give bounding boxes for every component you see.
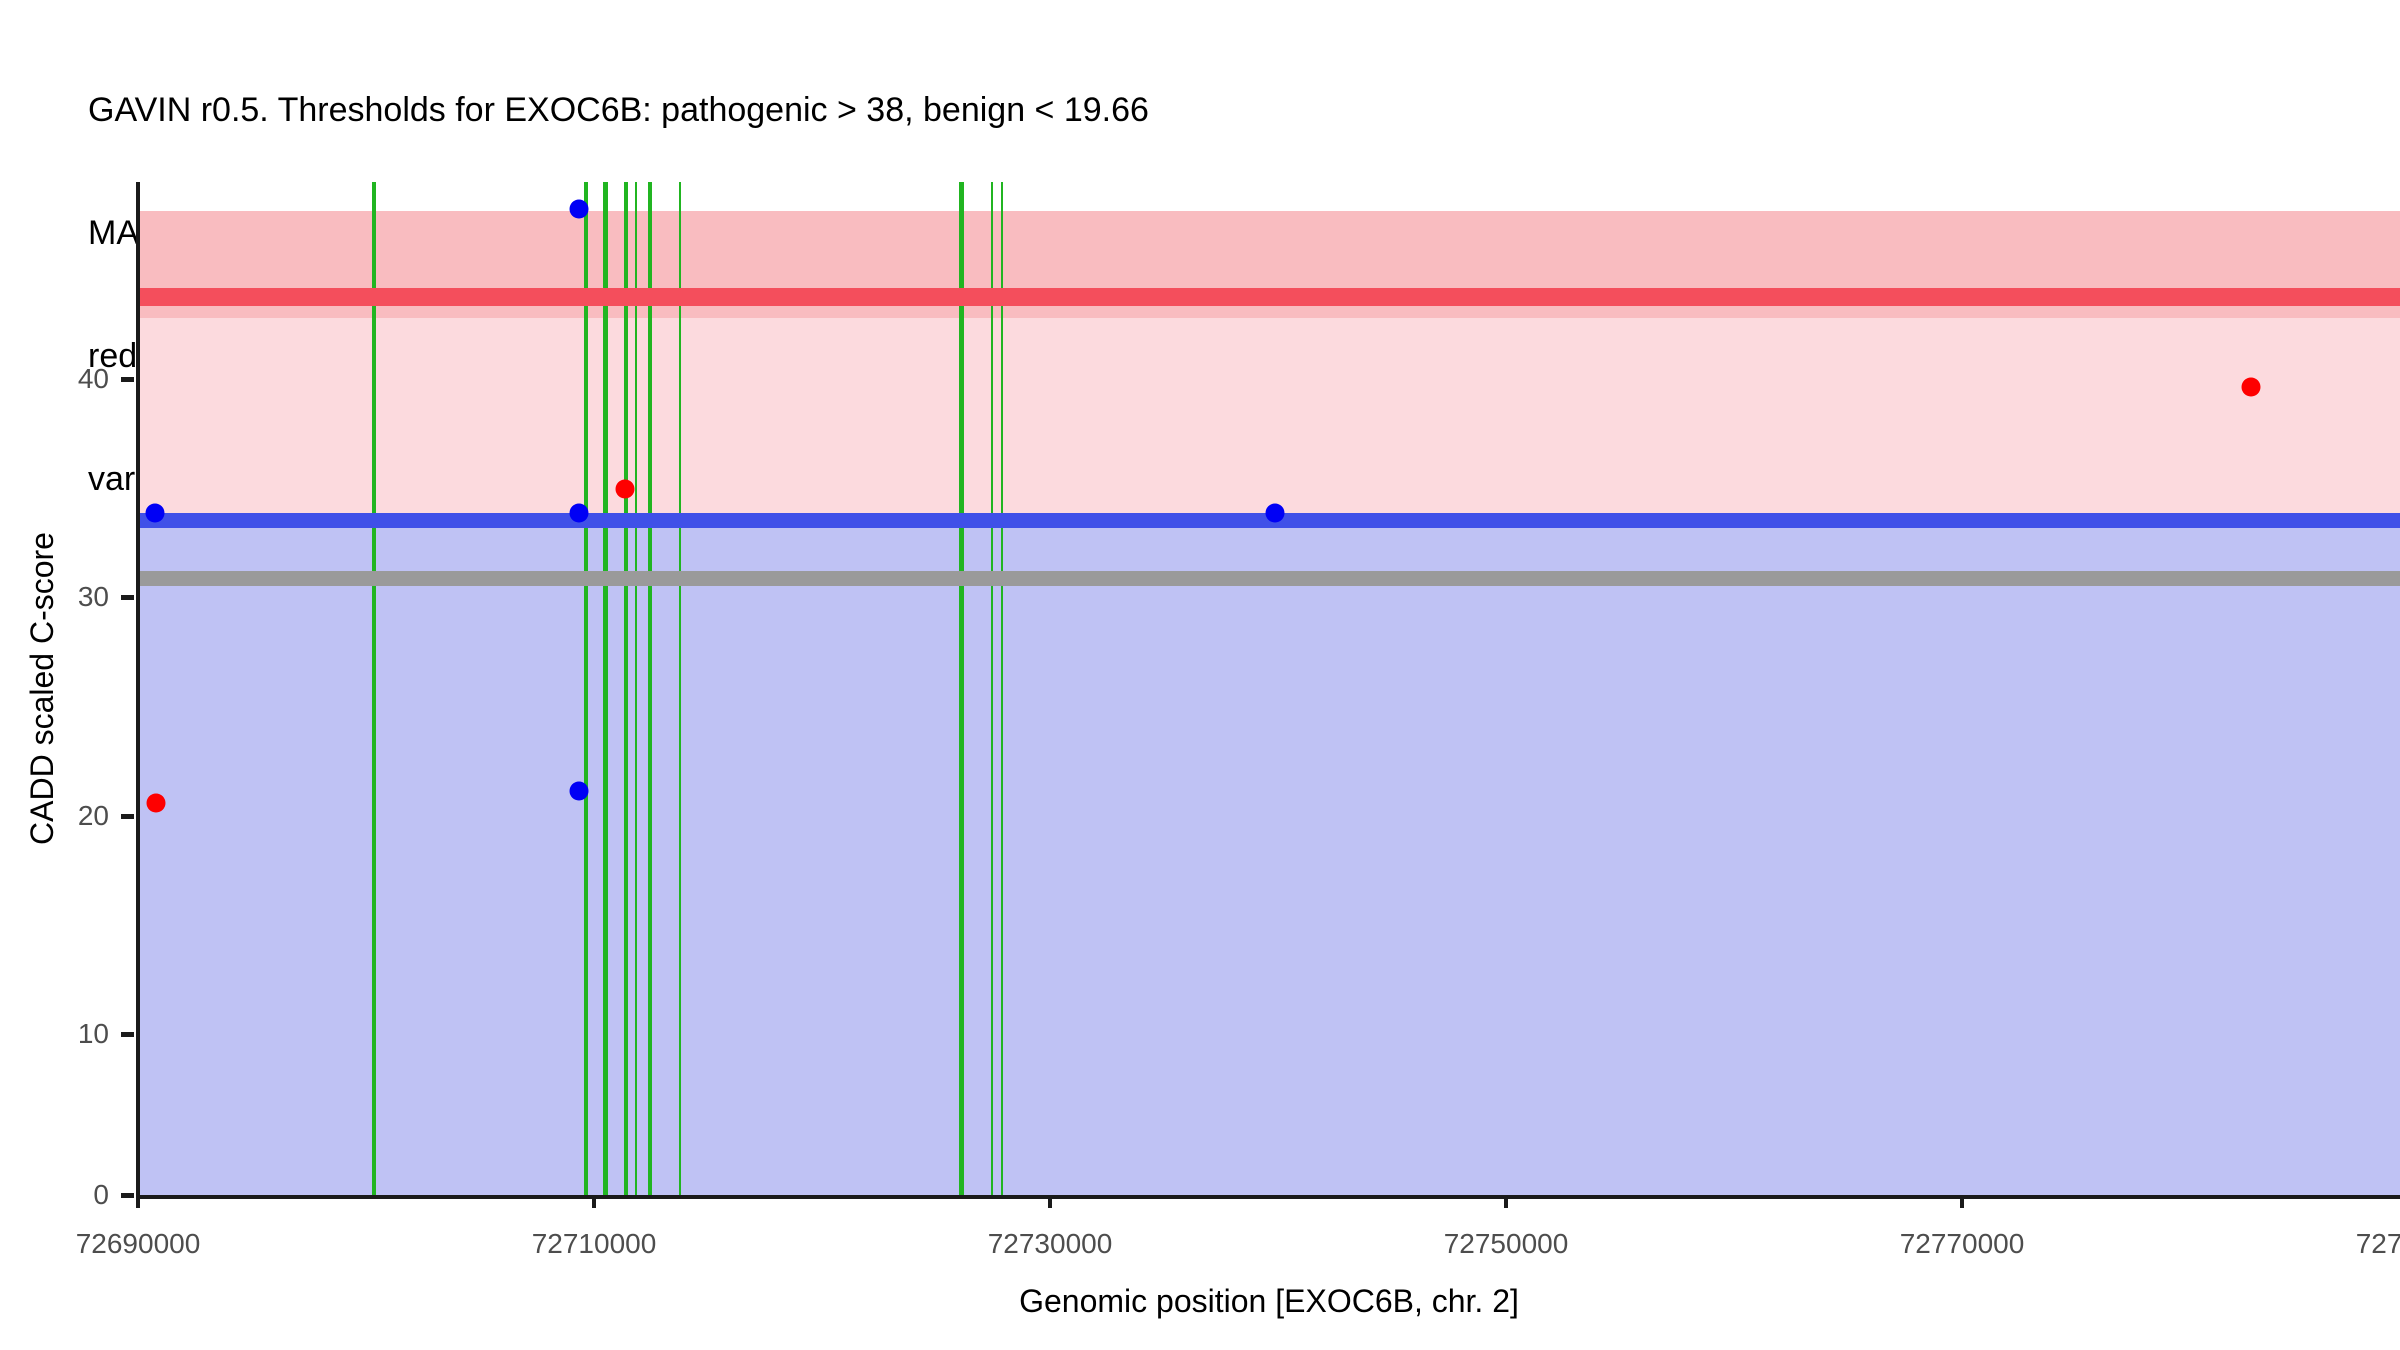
x-axis-label: Genomic position [EXOC6B, chr. 2] xyxy=(138,1283,2400,1320)
y-tick-label: 20 xyxy=(78,800,109,832)
pathogenic-variant-point[interactable] xyxy=(2242,378,2261,397)
y-tick-label: 0 xyxy=(93,1179,109,1211)
x-tick-mark xyxy=(1048,1195,1052,1208)
y-tick-mark xyxy=(121,1032,134,1037)
x-tick-mark xyxy=(592,1195,596,1208)
exon-line xyxy=(603,182,608,1195)
pathogenic-variant-point[interactable] xyxy=(616,480,635,499)
fallback-threshold-line xyxy=(138,571,2400,586)
exon-line xyxy=(959,182,964,1195)
gnomad-variant-point[interactable] xyxy=(1266,504,1285,523)
gnomad-variant-point[interactable] xyxy=(570,200,589,219)
y-tick-mark xyxy=(121,1193,134,1198)
gnomad-variant-point[interactable] xyxy=(570,782,589,801)
x-tick-label: 72770000 xyxy=(1900,1228,2025,1260)
y-tick-label: 10 xyxy=(78,1018,109,1050)
exon-line xyxy=(624,182,628,1195)
exon-line xyxy=(584,182,588,1195)
exon-line xyxy=(372,182,376,1195)
x-tick-mark xyxy=(1504,1195,1508,1208)
band-benign xyxy=(138,520,2400,1195)
exon-line xyxy=(635,182,637,1195)
x-tick-label: 72750000 xyxy=(1444,1228,1569,1260)
y-axis-label: CADD scaled C-score xyxy=(22,182,62,1195)
exon-line xyxy=(1001,182,1003,1195)
x-tick-mark xyxy=(1960,1195,1964,1208)
y-tick-mark xyxy=(121,377,134,382)
pathogenic-variant-point[interactable] xyxy=(147,794,166,813)
x-tick-label: 72790000 xyxy=(2356,1228,2400,1260)
title-line-1: GAVIN r0.5. Thresholds for EXOC6B: patho… xyxy=(88,90,2288,131)
y-tick-label: 40 xyxy=(78,363,109,395)
y-tick-label: 30 xyxy=(78,581,109,613)
x-tick-label: 72690000 xyxy=(76,1228,201,1260)
x-tick-label: 72730000 xyxy=(988,1228,1113,1260)
y-tick-mark xyxy=(121,814,134,819)
pathogenic-threshold-line xyxy=(138,288,2400,306)
plot-panel xyxy=(138,182,2400,1195)
x-tick-mark xyxy=(136,1195,140,1208)
exon-line xyxy=(648,182,652,1195)
exon-line xyxy=(679,182,681,1195)
y-axis-ticks: 40 30 20 10 0 xyxy=(0,0,138,1350)
exon-line xyxy=(991,182,993,1195)
y-tick-mark xyxy=(121,595,134,600)
x-axis-line xyxy=(136,1195,2400,1199)
x-tick-label: 72710000 xyxy=(532,1228,657,1260)
gnomad-variant-point[interactable] xyxy=(146,504,165,523)
gnomad-variant-point[interactable] xyxy=(570,504,589,523)
band-intermediate xyxy=(138,318,2400,520)
